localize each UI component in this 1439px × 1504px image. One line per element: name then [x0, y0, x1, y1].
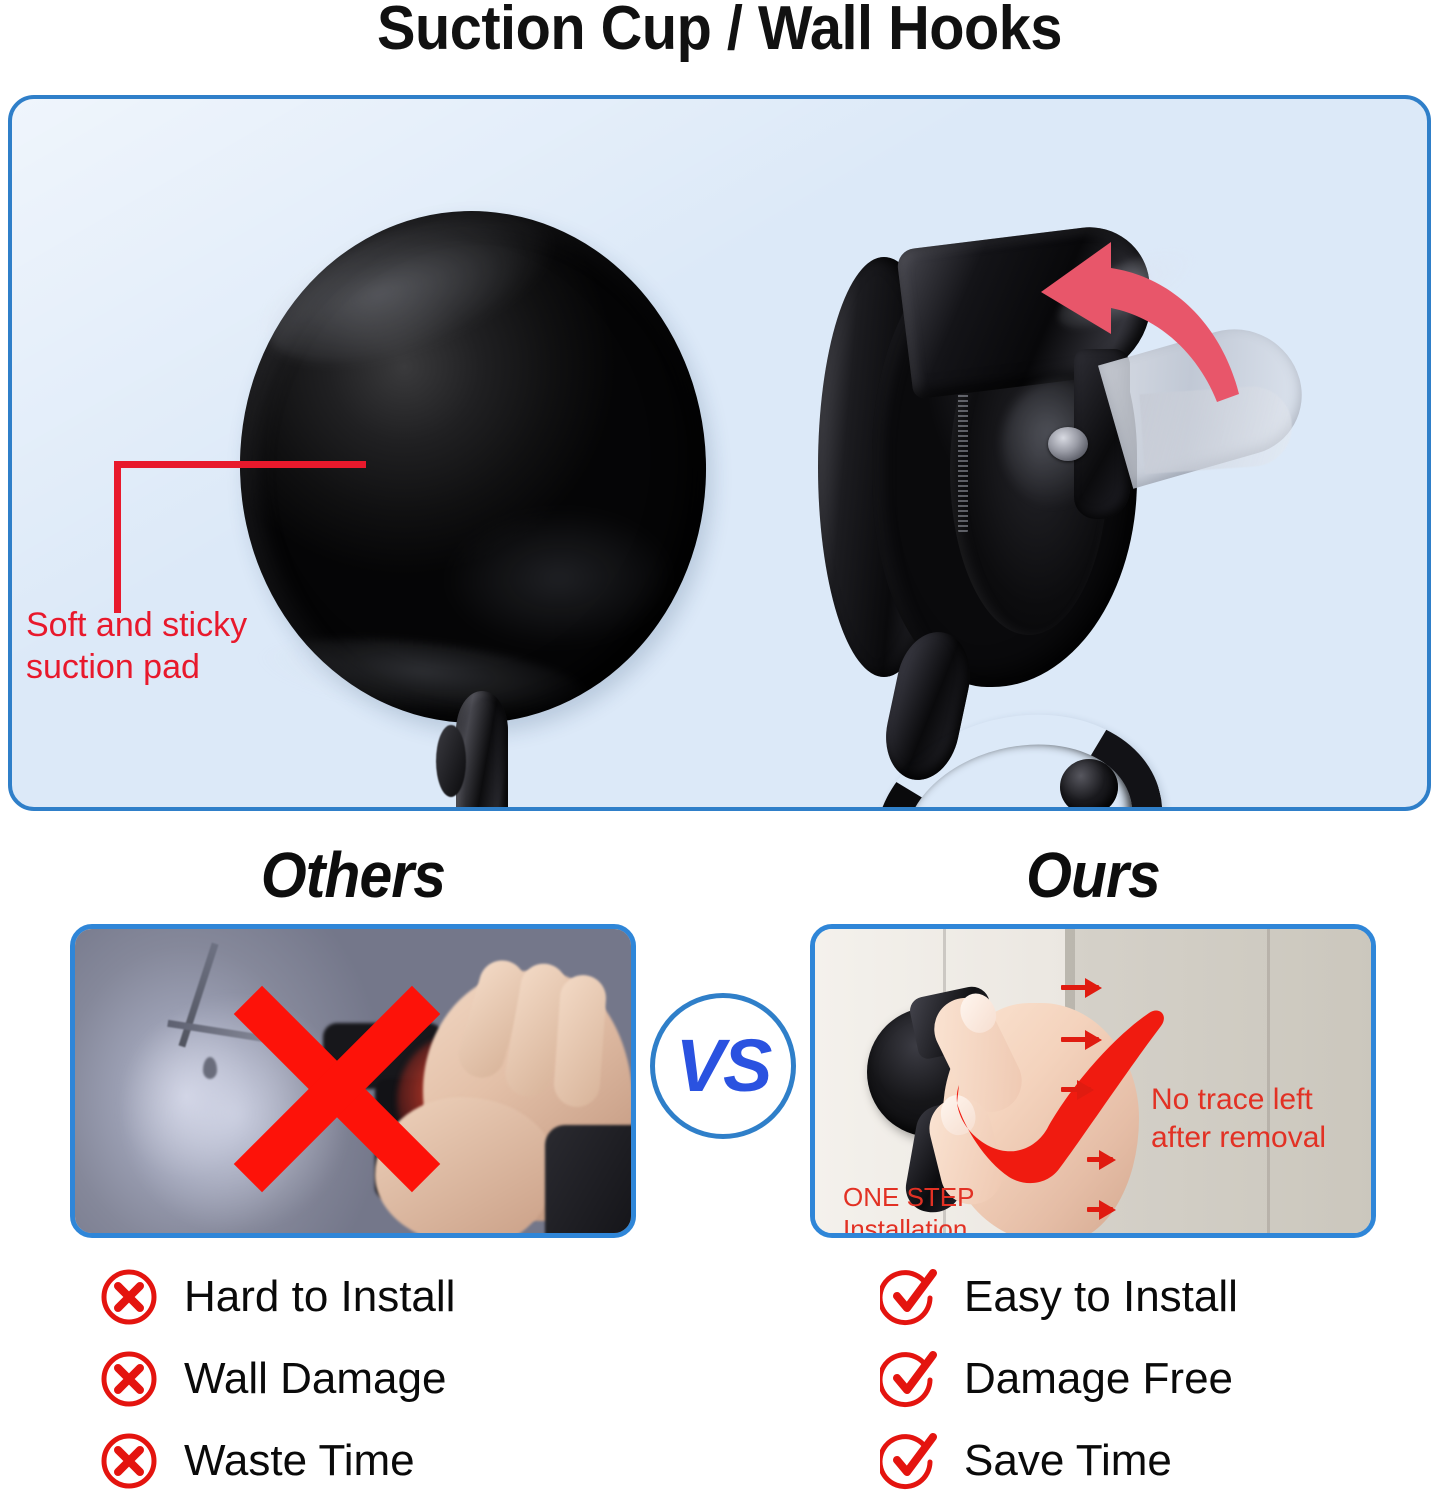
- one-step-label: ONE STEP Installation: [843, 1181, 974, 1238]
- list-item: Save Time: [880, 1422, 1439, 1500]
- trace-arrow-5: [1087, 1207, 1113, 1212]
- list-item-label: Damage Free: [964, 1353, 1233, 1405]
- vs-badge: VS: [650, 993, 796, 1139]
- others-bullet-list: Hard to Install Wall Damage Waste Time: [100, 1258, 700, 1504]
- circle-x-icon: [100, 1268, 158, 1326]
- circle-x-icon: [100, 1432, 158, 1490]
- vs-label: VS: [676, 1029, 771, 1103]
- side-hook: [874, 631, 1174, 811]
- circle-x-icon: [100, 1350, 158, 1408]
- one-step-label-line2: Installation: [843, 1213, 974, 1238]
- red-x-mark-icon: [215, 997, 459, 1181]
- hook-side-nub: [436, 725, 466, 797]
- list-item: Wall Damage: [100, 1340, 700, 1418]
- list-item: Waste Time: [100, 1422, 700, 1500]
- no-trace-label: No trace left after removal: [1151, 1081, 1326, 1157]
- ours-bullet-list: Easy to Install Damage Free Save Time: [880, 1258, 1439, 1504]
- callout-leader-line: [114, 461, 366, 613]
- others-photo-panel: [70, 924, 636, 1238]
- callout-label-line1: Soft and sticky: [26, 604, 276, 646]
- list-item-label: Save Time: [964, 1435, 1172, 1487]
- leader-vertical-segment: [114, 461, 121, 613]
- trace-arrow-2: [1061, 1037, 1099, 1042]
- circle-check-icon: [880, 1432, 938, 1490]
- trace-arrow-3: [1061, 1087, 1091, 1092]
- one-step-label-line1: ONE STEP: [843, 1181, 974, 1213]
- list-item: Damage Free: [880, 1340, 1439, 1418]
- list-item-label: Easy to Install: [964, 1271, 1238, 1323]
- others-heading: Others: [93, 838, 614, 912]
- list-item: Hard to Install: [100, 1258, 700, 1336]
- ours-photo-scene: ONE STEP Installation No trace left afte…: [815, 929, 1371, 1233]
- front-hook-stem: [432, 691, 522, 811]
- hero-product-panel: Soft and sticky suction pad: [8, 95, 1431, 811]
- disc-highlight-lower: [442, 504, 677, 652]
- list-item-label: Wall Damage: [184, 1353, 446, 1405]
- page-title: Suction Cup / Wall Hooks: [50, 0, 1388, 62]
- red-check-mark-icon: [943, 989, 1173, 1189]
- list-item: Easy to Install: [880, 1258, 1439, 1336]
- hook-tip-ball: [1060, 759, 1118, 811]
- ours-heading: Ours: [833, 838, 1354, 912]
- list-item-label: Waste Time: [184, 1435, 415, 1487]
- curved-left-arrow-icon: [1027, 234, 1307, 454]
- leader-horizontal-segment: [114, 461, 366, 468]
- circle-check-icon: [880, 1350, 938, 1408]
- list-item-label: Hard to Install: [184, 1271, 455, 1323]
- trace-arrow-4: [1087, 1157, 1113, 1162]
- disc-highlight-top: [249, 186, 571, 393]
- ours-photo-panel: ONE STEP Installation No trace left afte…: [810, 924, 1376, 1238]
- finger-3: [552, 974, 607, 1109]
- others-photo-scene: [75, 929, 631, 1233]
- trace-arrow-1: [1061, 985, 1099, 990]
- dark-sleeve: [545, 1125, 636, 1238]
- callout-label: Soft and sticky suction pad: [26, 604, 276, 688]
- no-trace-label-line1: No trace left: [1151, 1081, 1326, 1119]
- callout-label-line2: suction pad: [26, 646, 276, 688]
- no-trace-label-line2: after removal: [1151, 1119, 1326, 1157]
- circle-check-icon: [880, 1268, 938, 1326]
